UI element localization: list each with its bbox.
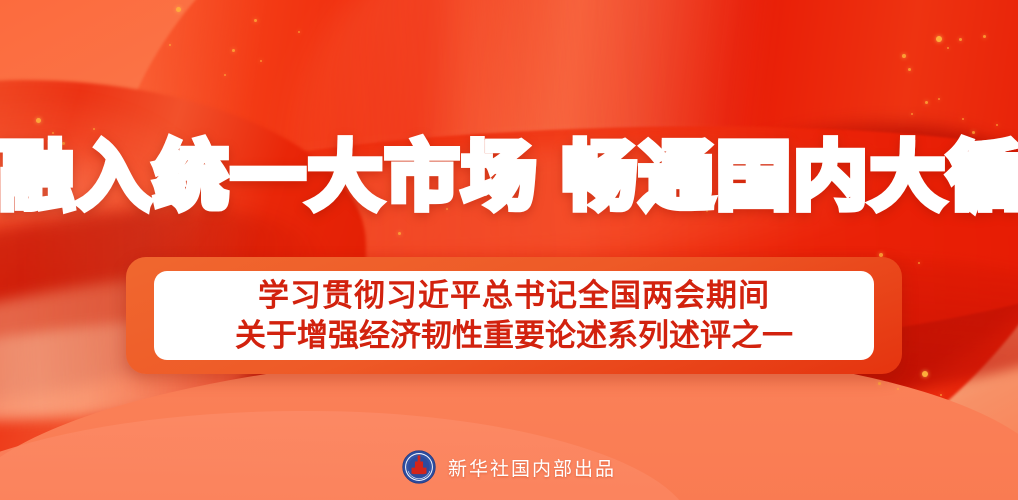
subtitle-card: 学习贯彻习近平总书记全国两会期间 关于增强经济韧性重要论述系列述评之一 bbox=[126, 257, 902, 374]
news-poster: 融入统一大市场 畅通国内大循环 学习贯彻习近平总书记全国两会期间 关于增强经济韧… bbox=[0, 0, 1018, 500]
main-title: 融入统一大市场 畅通国内大循环 bbox=[0, 140, 1018, 214]
main-title-container: 融入统一大市场 畅通国内大循环 bbox=[0, 140, 1018, 214]
subtitle-line-1: 学习贯彻习近平总书记全国两会期间 bbox=[258, 276, 770, 316]
footer-credit-text: 新华社国内部出品 bbox=[448, 454, 616, 481]
xinhua-news-agency-logo-icon bbox=[402, 450, 436, 484]
subtitle-card-inner: 学习贯彻习近平总书记全国两会期间 关于增强经济韧性重要论述系列述评之一 bbox=[154, 271, 874, 360]
subtitle-line-2: 关于增强经济韧性重要论述系列述评之一 bbox=[235, 316, 793, 356]
footer-credit: 新华社国内部出品 bbox=[0, 450, 1018, 484]
